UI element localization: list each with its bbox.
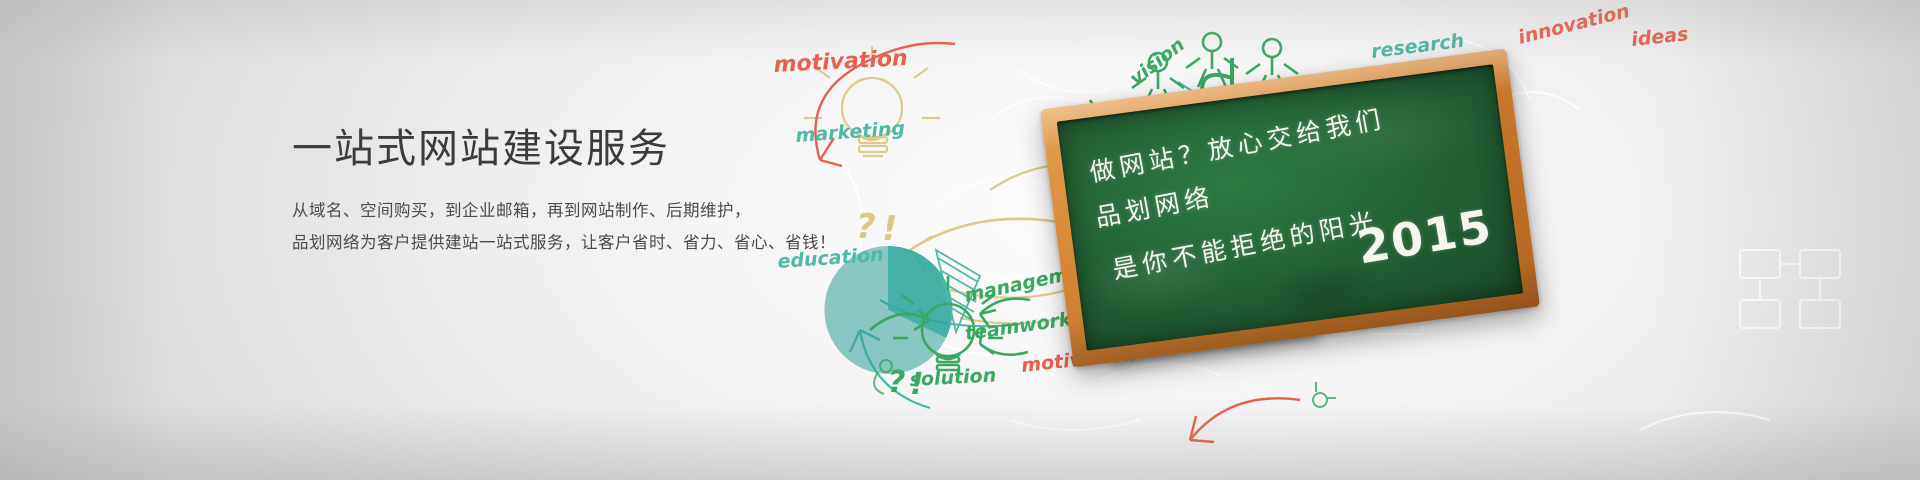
svg-text:?: ? [888, 365, 905, 400]
doodle-word-marketing: marketing [795, 117, 906, 147]
doodle-word-ideas: ideas [1630, 23, 1689, 51]
svg-text:?: ? [856, 207, 876, 247]
question-exclamation-doodle: ? ! [856, 207, 898, 249]
hero-banner: 一站式网站建设服务 从域名、空间购买，到企业邮箱，再到网站制作、后期维护， 品划… [0, 0, 1920, 480]
blackboard-line-1: 做网站？放心交给我们 [1086, 99, 1388, 189]
doodle-word-motivation: motivation [773, 46, 908, 78]
doodle-word-innovation: innovation [1516, 0, 1632, 49]
svg-text:!: ! [882, 209, 898, 249]
doodle-word-solution: solution [909, 364, 997, 391]
